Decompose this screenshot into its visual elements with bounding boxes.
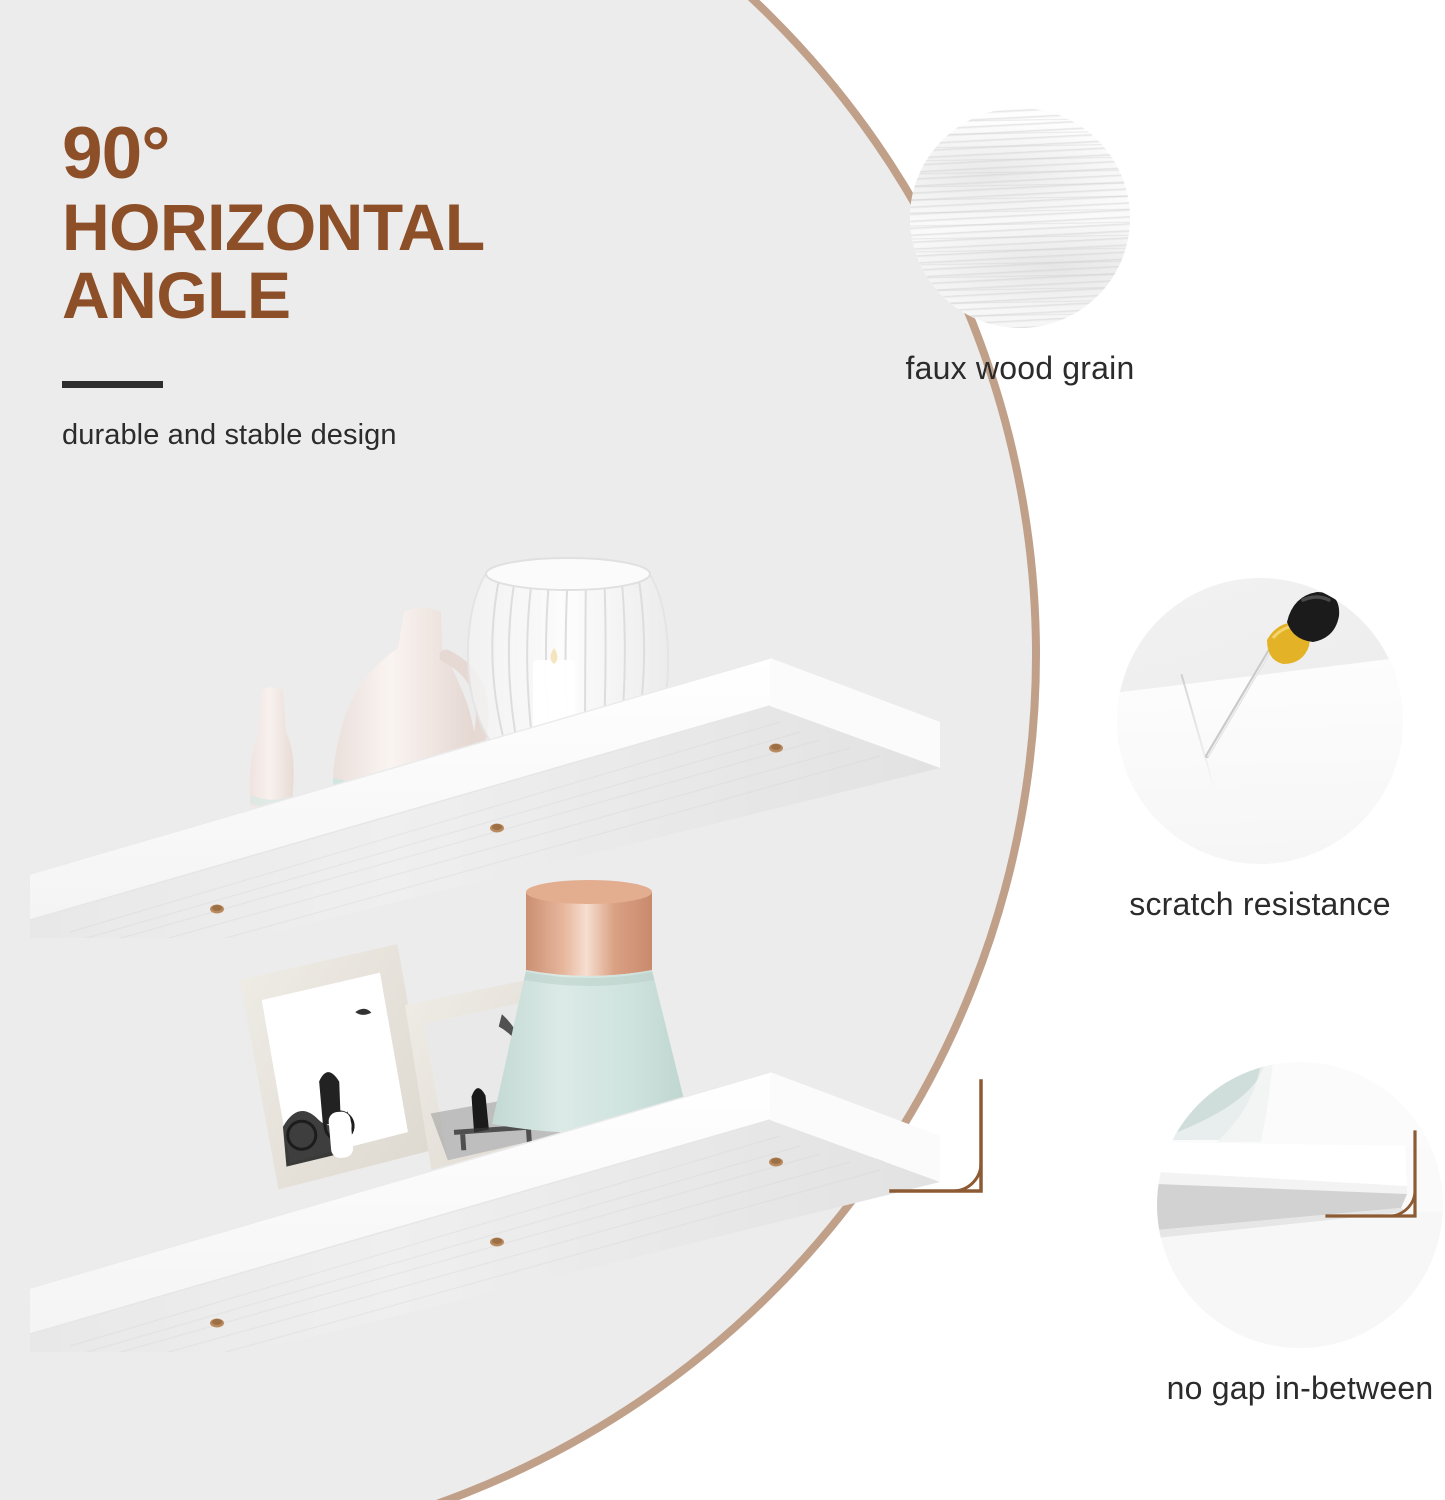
- shelf-top: [10, 648, 970, 938]
- heading-divider: [62, 381, 163, 388]
- callout-faux-wood-grain: faux wood grain: [870, 108, 1170, 387]
- heading-subtitle: durable and stable design: [62, 419, 682, 452]
- screw-hole: [769, 1158, 783, 1167]
- shelf-edge-photo: [1157, 1062, 1443, 1348]
- heading-degree: 90°: [62, 118, 682, 190]
- screw-hole: [490, 824, 504, 833]
- screw-hole: [769, 744, 783, 753]
- screwdriver-icon: [1117, 578, 1403, 864]
- screw-hole: [490, 1238, 504, 1247]
- heading-line-2: ANGLE: [62, 262, 682, 330]
- heading-block: 90° HORIZONTAL ANGLE durable and stable …: [62, 118, 682, 452]
- shelf-edge-angle: [1157, 1062, 1443, 1348]
- wood-grain-swatch: [910, 108, 1130, 328]
- callout-scratch-resistance: scratch resistance: [1110, 578, 1410, 923]
- callout-label: scratch resistance: [1110, 886, 1410, 923]
- screw-hole: [210, 1319, 224, 1328]
- callout-no-gap-in-between: no gap in-between: [1150, 1062, 1445, 1407]
- product-feature-image: 90° HORIZONTAL ANGLE durable and stable …: [0, 0, 1445, 1500]
- heading-line-1: HORIZONTAL: [62, 194, 682, 262]
- callout-label: no gap in-between: [1150, 1370, 1445, 1407]
- callout-label: faux wood grain: [870, 350, 1170, 387]
- wood-grain-texture: [910, 108, 1130, 328]
- angle-marker-main: [885, 1075, 995, 1210]
- screw-hole: [210, 905, 224, 914]
- scratch-resistance-photo: [1117, 578, 1403, 864]
- shelf-bottom: [10, 1062, 970, 1352]
